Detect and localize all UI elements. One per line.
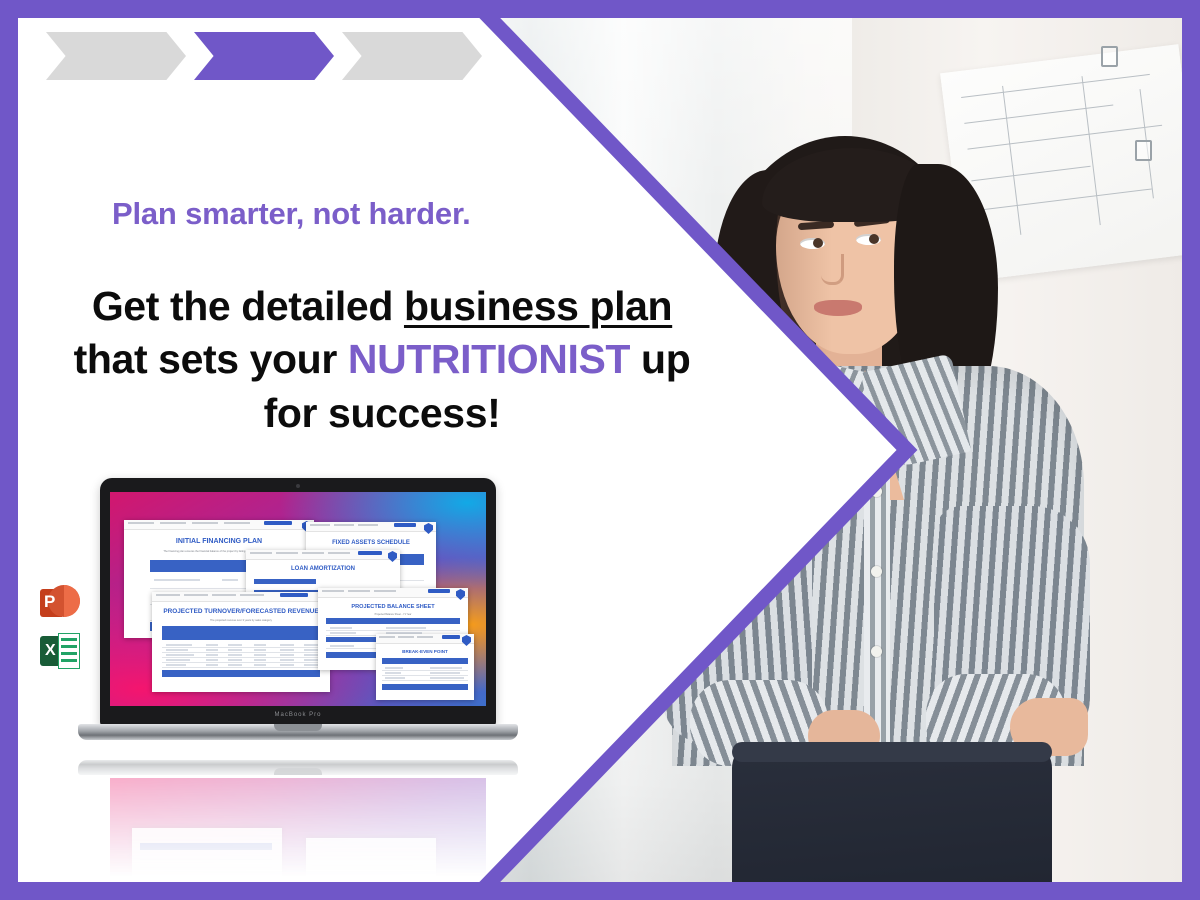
card-ribbon [124, 520, 314, 530]
laptop-screen: INITIAL FINANCING PLAN The financing pla… [110, 492, 486, 706]
laptop-reflection [78, 760, 518, 882]
excel-icon[interactable]: X [40, 631, 80, 671]
card-subtitle: Projected Balance Sheet - Y1 Year [318, 613, 468, 616]
collar-left [767, 355, 877, 468]
chevron-step-3[interactable] [342, 32, 482, 80]
window-mullion [410, 18, 422, 882]
window-mullion [70, 18, 86, 882]
step-chevrons [46, 32, 482, 80]
iris [813, 238, 823, 248]
table-footer [382, 684, 468, 690]
waistband [732, 742, 1052, 762]
laptop-lid: INITIAL FINANCING PLAN The financing pla… [100, 478, 496, 726]
reflection-card [306, 838, 436, 882]
table-row [382, 675, 468, 681]
laptop-notch [274, 724, 322, 731]
window-mullion [488, 18, 497, 882]
slide-root: Plan smarter, not harder. Get the detail… [0, 0, 1200, 900]
iris [869, 234, 879, 244]
shirt-button [871, 646, 882, 657]
document-card-break-even[interactable]: BREAK-EVEN POINT [376, 634, 474, 700]
table-header [162, 626, 320, 633]
paper-clip-icon [1135, 140, 1152, 161]
reflection-card [132, 828, 282, 882]
card-ribbon [246, 550, 400, 560]
woman-figure [658, 114, 1088, 882]
trousers [732, 742, 1052, 882]
table-header [382, 658, 468, 664]
laptop-mockup: INITIAL FINANCING PLAN The financing pla… [78, 478, 518, 748]
webcam-icon [296, 484, 300, 488]
card-title: FIXED ASSETS SCHEDULE [306, 540, 436, 546]
headline-underlined-term: business plan [404, 283, 672, 329]
lips [814, 300, 862, 316]
card-title: BREAK-EVEN POINT [376, 649, 474, 654]
card-ribbon [152, 592, 330, 602]
window-mullion [273, 18, 295, 882]
card-title: LOAN AMORTIZATION [246, 566, 400, 572]
card-ribbon [376, 634, 474, 644]
excel-icon-sheet [58, 633, 80, 669]
table-header [162, 633, 320, 640]
slide-canvas: Plan smarter, not harder. Get the detail… [18, 18, 1182, 882]
nose [821, 254, 844, 285]
chevron-step-1[interactable] [46, 32, 186, 80]
table-row [162, 662, 320, 668]
card-subtitle: The projected revenue over 3 years by sa… [152, 619, 330, 622]
reflection-notch [274, 768, 322, 775]
headline-line-3: for success! [52, 387, 712, 440]
powerpoint-icon[interactable]: P [40, 583, 80, 623]
headline-line-2: that sets your NUTRITIONIST up [52, 333, 712, 386]
headline-part-3: up [630, 336, 690, 382]
shirt-button [871, 486, 882, 497]
headline-part-2: that sets your [74, 336, 348, 382]
headline-accent-term: NUTRITIONIST [348, 336, 630, 382]
headline-part-1: Get the detailed [92, 283, 404, 329]
card-title: PROJECTED TURNOVER/FORECASTED REVENUE [152, 608, 330, 615]
powerpoint-icon-letter: P [44, 592, 55, 612]
reflection-screen [110, 778, 486, 882]
table-footer [162, 670, 320, 677]
document-card-projected-turnover[interactable]: PROJECTED TURNOVER/FORECASTED REVENUE Th… [152, 592, 330, 692]
woman-by-window-photo [18, 18, 1182, 882]
headline-line-1: Get the detailed business plan [52, 280, 712, 333]
card-title: INITIAL FINANCING PLAN [124, 538, 314, 545]
table-header [254, 579, 316, 584]
card-title: PROJECTED BALANCE SHEET [318, 604, 468, 610]
paper-clip-icon [1101, 46, 1118, 67]
device-model-label: MacBook Pro [100, 712, 496, 718]
card-ribbon [318, 588, 468, 598]
excel-icon-letter: X [45, 642, 56, 660]
card-ribbon [306, 522, 436, 532]
window-mullion [168, 18, 178, 882]
shirt-button [871, 566, 882, 577]
chevron-step-2-active[interactable] [194, 32, 334, 80]
headline-text: Get the detailed business plan that sets… [52, 280, 712, 440]
table-header [326, 618, 460, 624]
subtitle-text: Plan smarter, not harder. [112, 196, 471, 232]
